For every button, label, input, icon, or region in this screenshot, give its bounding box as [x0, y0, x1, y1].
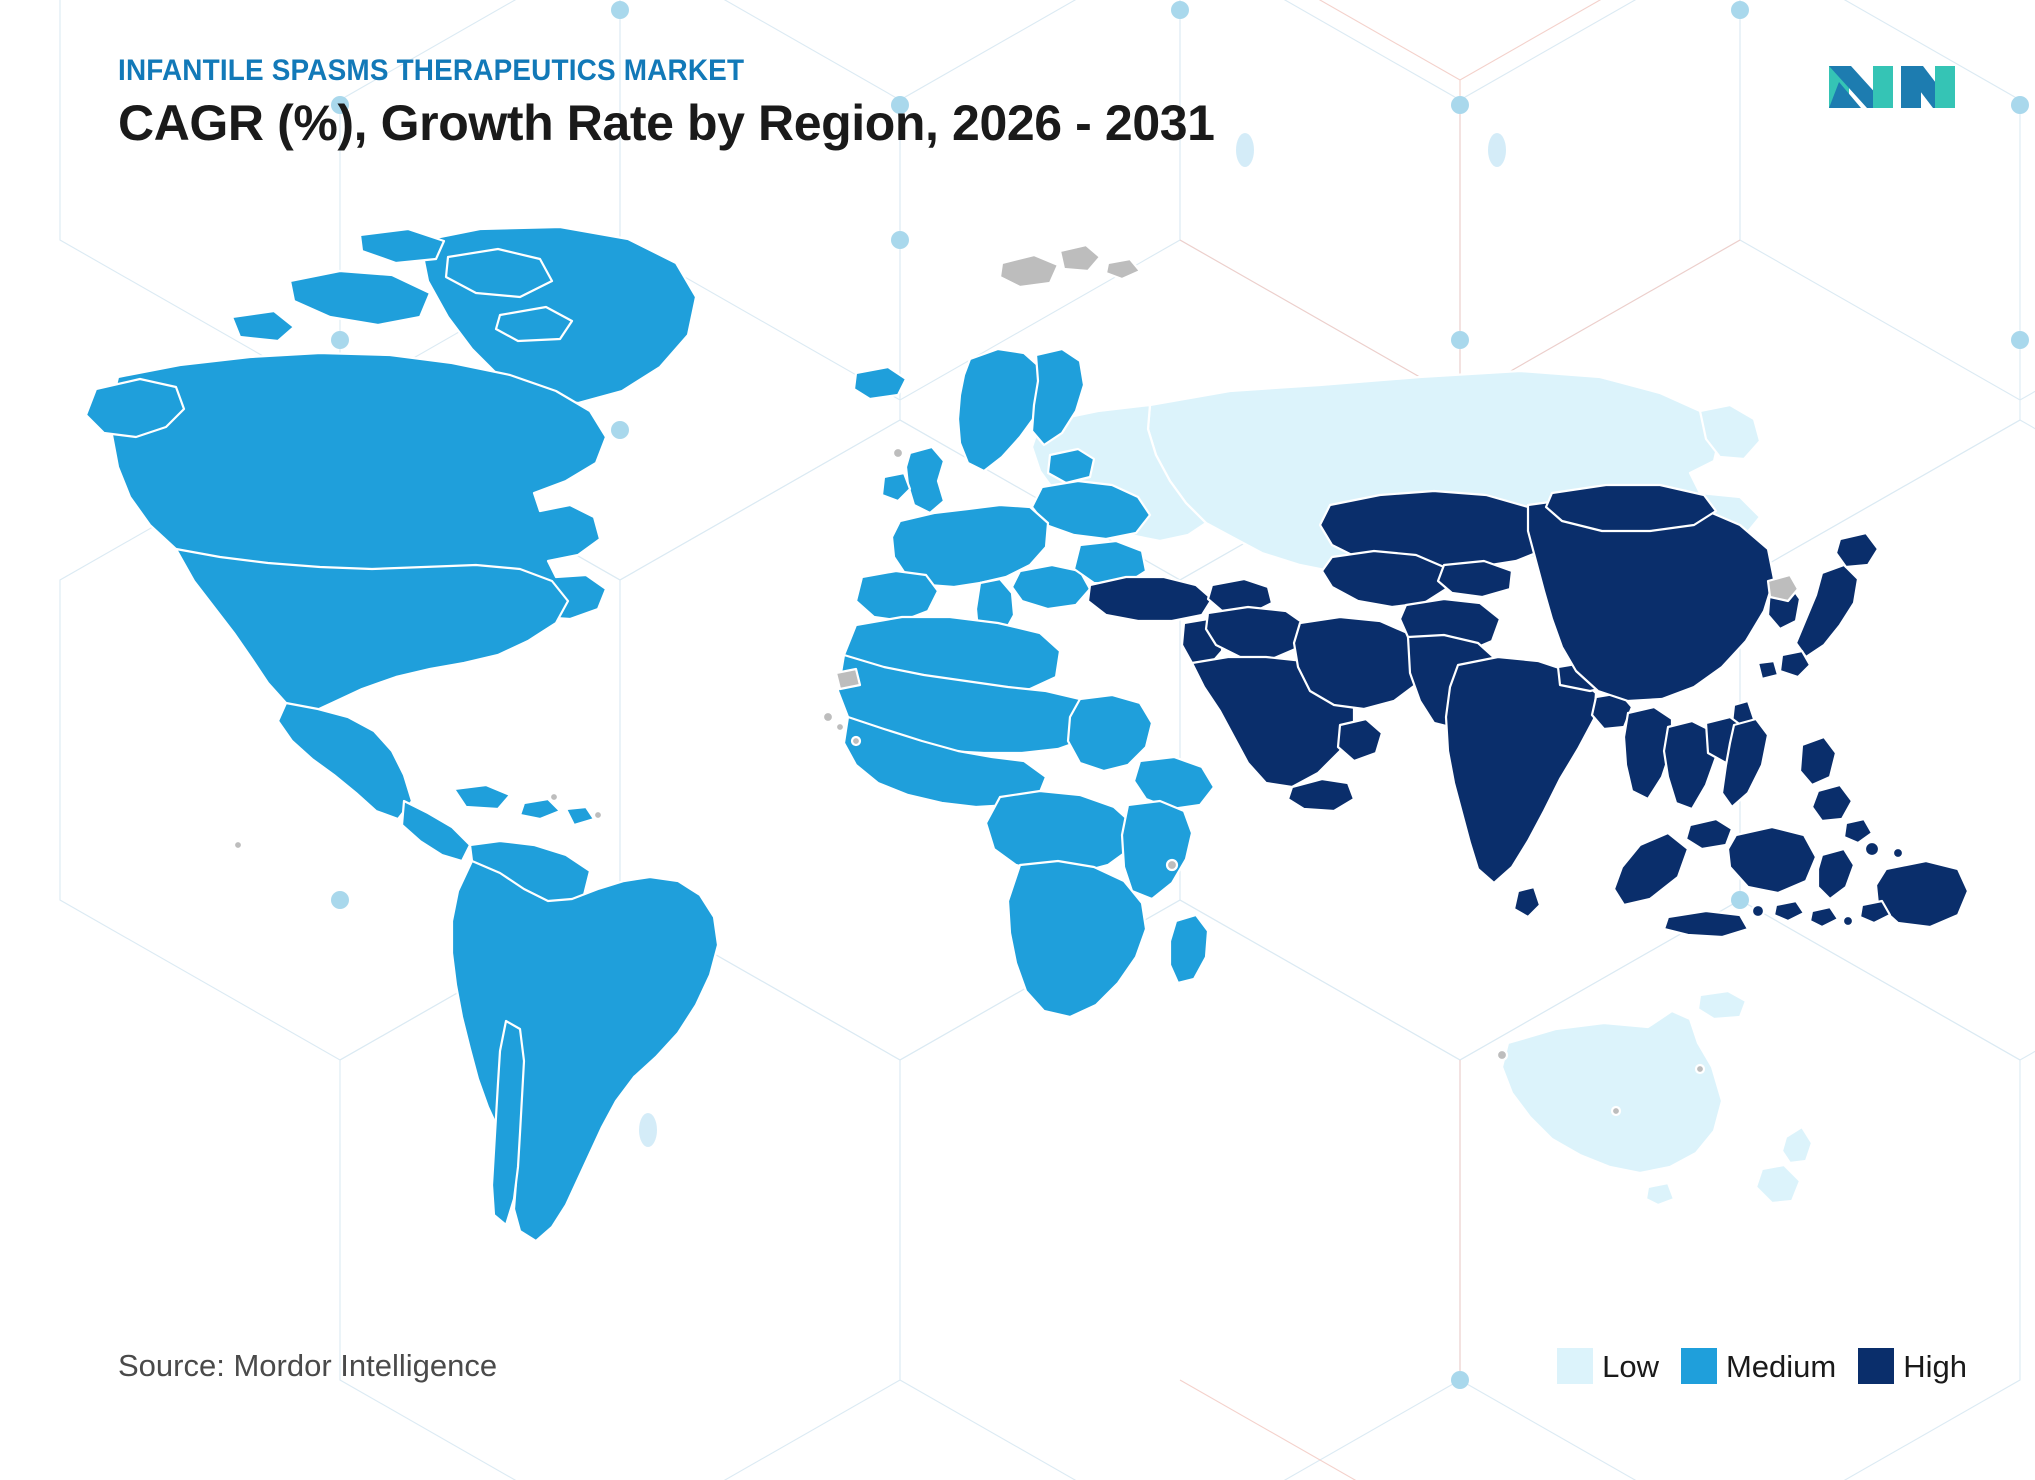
market-name-eyebrow: INFANTILE SPASMS THERAPEUTICS MARKET — [118, 54, 1138, 88]
chart-header: INFANTILE SPASMS THERAPEUTICS MARKET CAG… — [118, 54, 1215, 152]
legend-item-low[interactable]: Low — [1557, 1348, 1659, 1384]
legend-item-high[interactable]: High — [1858, 1348, 1967, 1384]
legend-swatch-high — [1858, 1348, 1894, 1384]
page-title: CAGR (%), Growth Rate by Region, 2026 - … — [118, 94, 1215, 152]
world-choropleth-map — [0, 205, 2035, 1285]
legend-label-high: High — [1903, 1351, 1967, 1382]
legend-label-medium: Medium — [1726, 1351, 1836, 1382]
map-legend: Low Medium High — [1557, 1348, 1967, 1384]
world-map-svg — [0, 205, 2035, 1285]
region-group-medium — [86, 227, 1214, 1241]
legend-swatch-medium — [1681, 1348, 1717, 1384]
legend-label-low: Low — [1602, 1351, 1659, 1382]
legend-swatch-low — [1557, 1348, 1593, 1384]
mordor-intelligence-logo — [1827, 52, 1957, 122]
region-group-high — [1088, 485, 1968, 937]
source-note: Source: Mordor Intelligence — [118, 1348, 497, 1384]
legend-item-medium[interactable]: Medium — [1681, 1348, 1836, 1384]
